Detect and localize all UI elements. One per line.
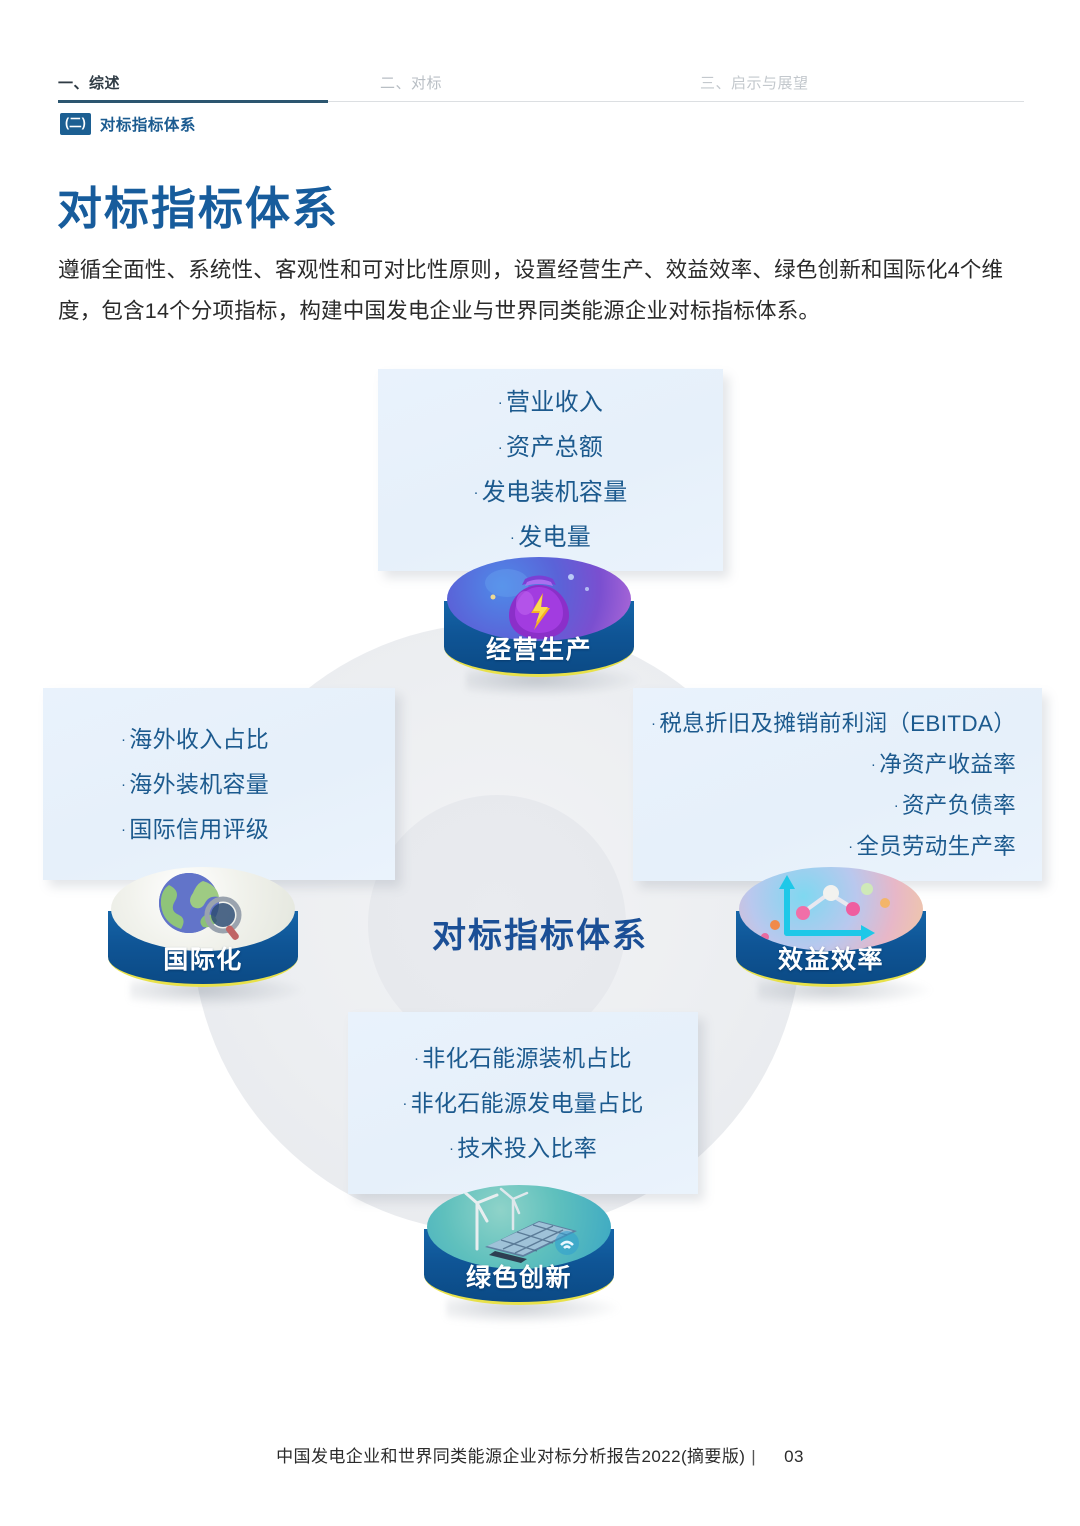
section-nav: 一、综述 二、对标 三、启示与展望 — [58, 72, 1022, 110]
bullet-icon: · — [449, 1140, 457, 1157]
indicator-list: ·非化石能源装机占比 ·非化石能源发电量占比 ·技术投入比率 — [402, 1036, 643, 1171]
bullet-icon: · — [871, 756, 879, 773]
solar-panel-wind-turbine-icon — [427, 1185, 611, 1269]
footer-document-title: 中国发电企业和世界同类能源企业对标分析报告2022(摘要版) — [276, 1447, 745, 1466]
globe-magnifier-icon — [111, 867, 295, 951]
indicator-card-internationalization: ·海外收入占比 ·海外装机容量 ·国际信用评级 — [43, 688, 395, 880]
bullet-icon: · — [510, 529, 518, 546]
indicator-card-benefit-efficiency: ·税息折旧及摊销前利润（EBITDA） ·净资产收益率 ·资产负债率 ·全员劳动… — [633, 688, 1042, 881]
section-heading: (二) 对标指标体系 — [60, 113, 196, 135]
axis-chart-molecule-icon — [739, 867, 923, 951]
diagram-node-benefit-efficiency[interactable]: 效益效率 — [736, 867, 926, 1019]
section-number-badge: (二) — [60, 113, 91, 135]
list-item: ·资产总额 — [473, 425, 627, 470]
diagram-node-business-production[interactable]: 经营生产 — [444, 557, 634, 709]
indicator-label: 非化石能源装机占比 — [422, 1045, 632, 1071]
indicator-label: 海外装机容量 — [129, 771, 269, 797]
bullet-icon: · — [498, 394, 506, 411]
indicator-label: 税息折旧及摊销前利润（EBITDA） — [659, 711, 1016, 736]
list-item: ·全员劳动生产率 — [651, 826, 1016, 867]
document-page: 一、综述 二、对标 三、启示与展望 (二) 对标指标体系 对标指标体系 遵循全面… — [0, 0, 1080, 1526]
indicator-label: 资产总额 — [506, 434, 603, 461]
bullet-icon: · — [473, 484, 481, 501]
indicator-label: 净资产收益率 — [879, 752, 1016, 777]
node-label: 国际化 — [108, 940, 298, 976]
indicator-list: ·税息折旧及摊销前利润（EBITDA） ·净资产收益率 ·资产负债率 ·全员劳动… — [651, 703, 1016, 867]
indicator-label: 海外收入占比 — [129, 726, 269, 752]
page-title: 对标指标体系 — [57, 172, 339, 237]
footer-separator: | — [745, 1447, 762, 1466]
nav-active-underline — [58, 100, 328, 103]
node-label: 经营生产 — [444, 630, 634, 666]
intro-paragraph: 遵循全面性、系统性、客观性和可对比性原则，设置经营生产、效益效率、绿色创新和国际… — [58, 250, 1020, 332]
indicator-label: 营业收入 — [506, 389, 603, 416]
nav-tab-insights[interactable]: 三、启示与展望 — [700, 72, 809, 93]
benchmark-framework-diagram: 对标指标体系 ·营业收入 ·资产总额 ·发电装机容量 ·发电量 ·税息折旧及摊销… — [0, 355, 1080, 1405]
money-bag-lightning-icon — [447, 557, 631, 641]
section-heading-label: 对标指标体系 — [100, 113, 196, 135]
footer-page-number: 03 — [762, 1447, 804, 1466]
indicator-label: 非化石能源发电量占比 — [411, 1090, 644, 1116]
indicator-label: 国际信用评级 — [129, 816, 269, 842]
node-label: 绿色创新 — [424, 1258, 614, 1294]
diagram-node-internationalization[interactable]: 国际化 — [108, 867, 298, 1019]
list-item: ·发电量 — [473, 515, 627, 560]
list-item: ·非化石能源装机占比 — [402, 1036, 643, 1081]
indicator-label: 资产负债率 — [902, 793, 1016, 818]
indicator-card-green-innovation: ·非化石能源装机占比 ·非化石能源发电量占比 ·技术投入比率 — [348, 1012, 698, 1194]
indicator-list: ·营业收入 ·资产总额 ·发电装机容量 ·发电量 — [473, 380, 627, 560]
list-item: ·发电装机容量 — [473, 470, 627, 515]
list-item: ·资产负债率 — [651, 785, 1016, 826]
indicator-list: ·海外收入占比 ·海外装机容量 ·国际信用评级 — [121, 717, 269, 852]
diagram-node-green-innovation[interactable]: 绿色创新 — [424, 1185, 614, 1337]
indicator-label: 全员劳动生产率 — [856, 834, 1016, 859]
indicator-label: 发电装机容量 — [482, 479, 628, 506]
bullet-icon: · — [894, 797, 902, 814]
bullet-icon: · — [498, 439, 506, 456]
node-label: 效益效率 — [736, 940, 926, 976]
bullet-icon: · — [402, 1095, 410, 1112]
list-item: ·营业收入 — [473, 380, 627, 425]
list-item: ·海外装机容量 — [121, 762, 269, 807]
indicator-label: 技术投入比率 — [457, 1135, 597, 1161]
indicator-label: 发电量 — [518, 524, 591, 551]
page-footer: 中国发电企业和世界同类能源企业对标分析报告2022(摘要版)|03 — [0, 1442, 1080, 1467]
nav-tab-overview[interactable]: 一、综述 — [58, 72, 120, 93]
list-item: ·非化石能源发电量占比 — [402, 1081, 643, 1126]
list-item: ·净资产收益率 — [651, 744, 1016, 785]
list-item: ·国际信用评级 — [121, 807, 269, 852]
list-item: ·海外收入占比 — [121, 717, 269, 762]
list-item: ·技术投入比率 — [402, 1126, 643, 1171]
nav-tab-benchmark[interactable]: 二、对标 — [380, 72, 442, 93]
list-item: ·税息折旧及摊销前利润（EBITDA） — [651, 703, 1016, 744]
indicator-card-business-production: ·营业收入 ·资产总额 ·发电装机容量 ·发电量 — [378, 369, 723, 571]
